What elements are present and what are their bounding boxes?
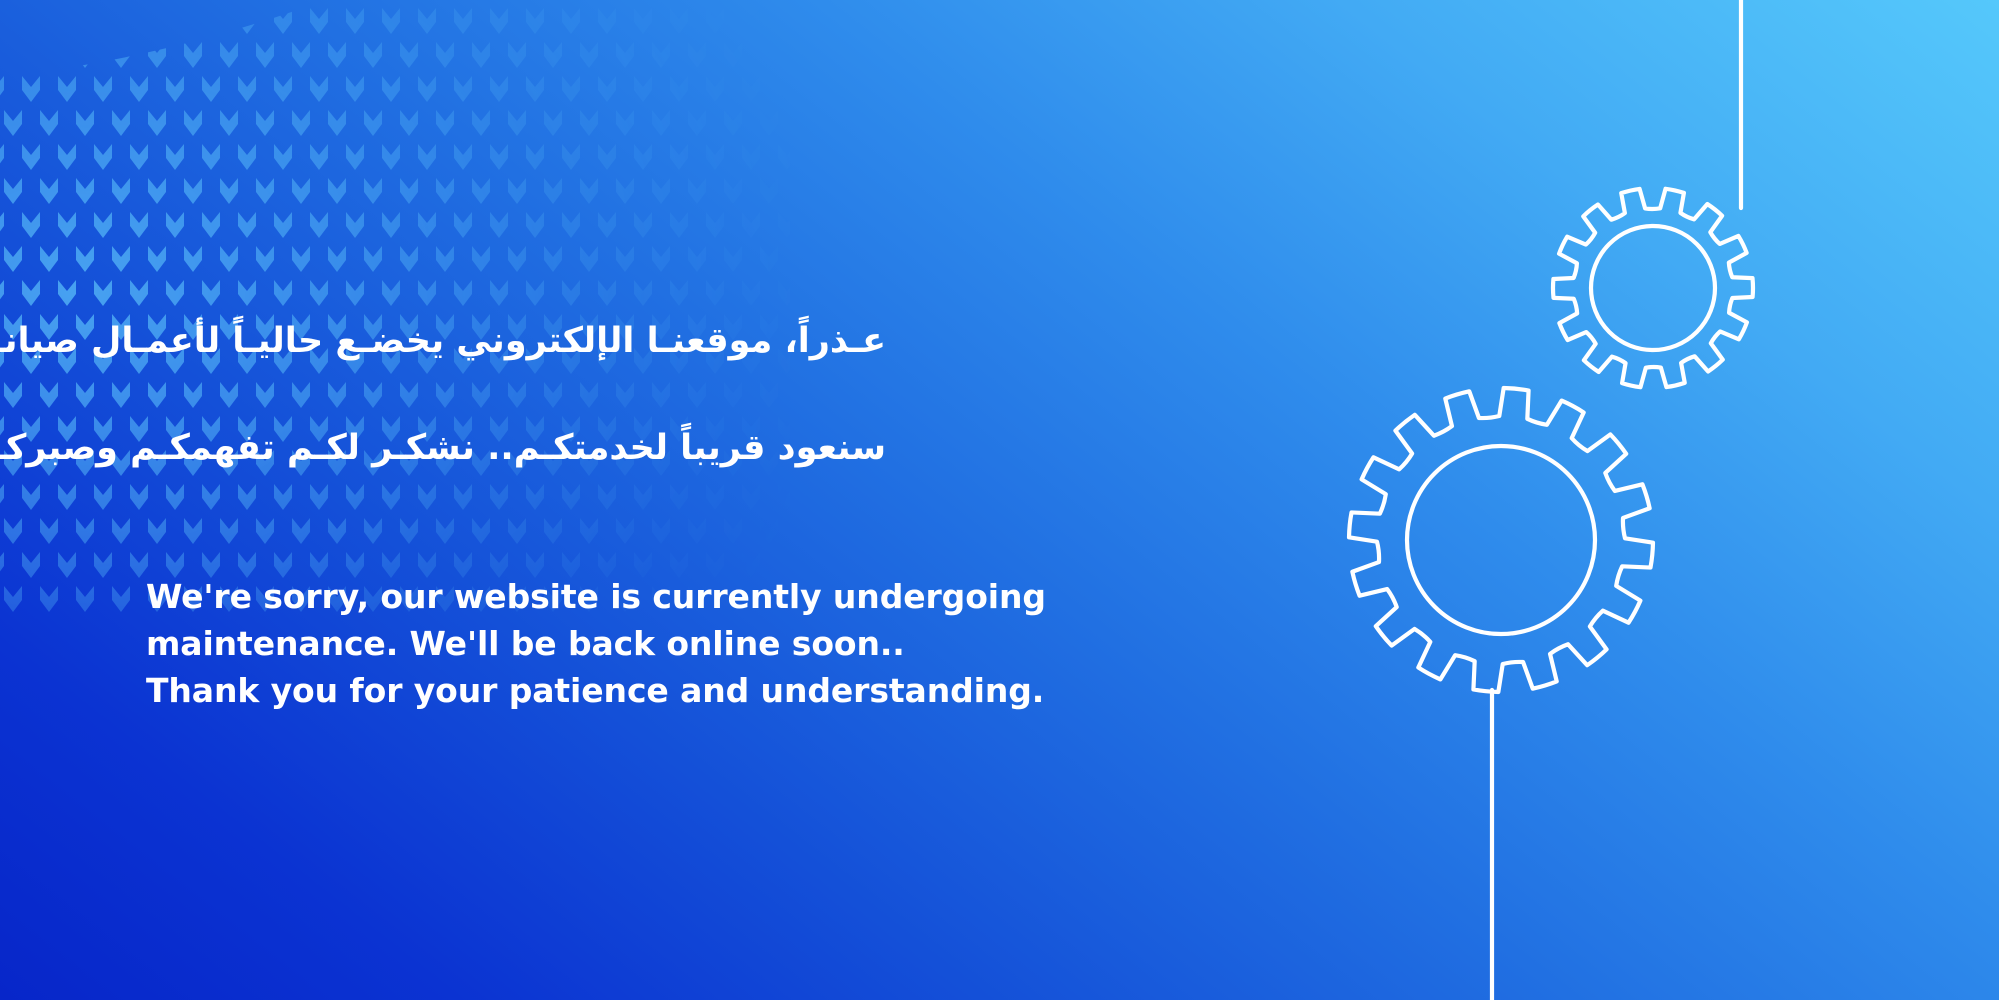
arabic-line-1: عـذراً، موقعنـا الإلكتروني يخضـع حاليـاً…	[146, 315, 886, 368]
gear-large-hub	[1407, 446, 1595, 634]
gear-small-body	[1553, 189, 1753, 387]
gear-large-body	[1349, 388, 1653, 692]
gear-large	[1349, 388, 1653, 692]
arabic-line-2: سنعود قريباً لخدمتكـم.. نشكـر لكـم تفهمك…	[146, 422, 886, 475]
english-message: We're sorry, our website is currently un…	[146, 574, 1046, 715]
arabic-message: عـذراً، موقعنـا الإلكتروني يخضـع حاليـاً…	[146, 262, 886, 528]
english-line-1: We're sorry, our website is currently un…	[146, 574, 1046, 621]
gear-small-hub	[1591, 226, 1715, 350]
gear-assembly	[1279, 0, 1999, 1000]
english-line-2: maintenance. We'll be back online soon..	[146, 621, 1046, 668]
gear-small	[1553, 189, 1753, 387]
english-line-3: Thank you for your patience and understa…	[146, 668, 1046, 715]
maintenance-page: عـذراً، موقعنـا الإلكتروني يخضـع حاليـاً…	[0, 0, 1999, 1000]
message-content: عـذراً، موقعنـا الإلكتروني يخضـع حاليـاً…	[146, 262, 1046, 715]
